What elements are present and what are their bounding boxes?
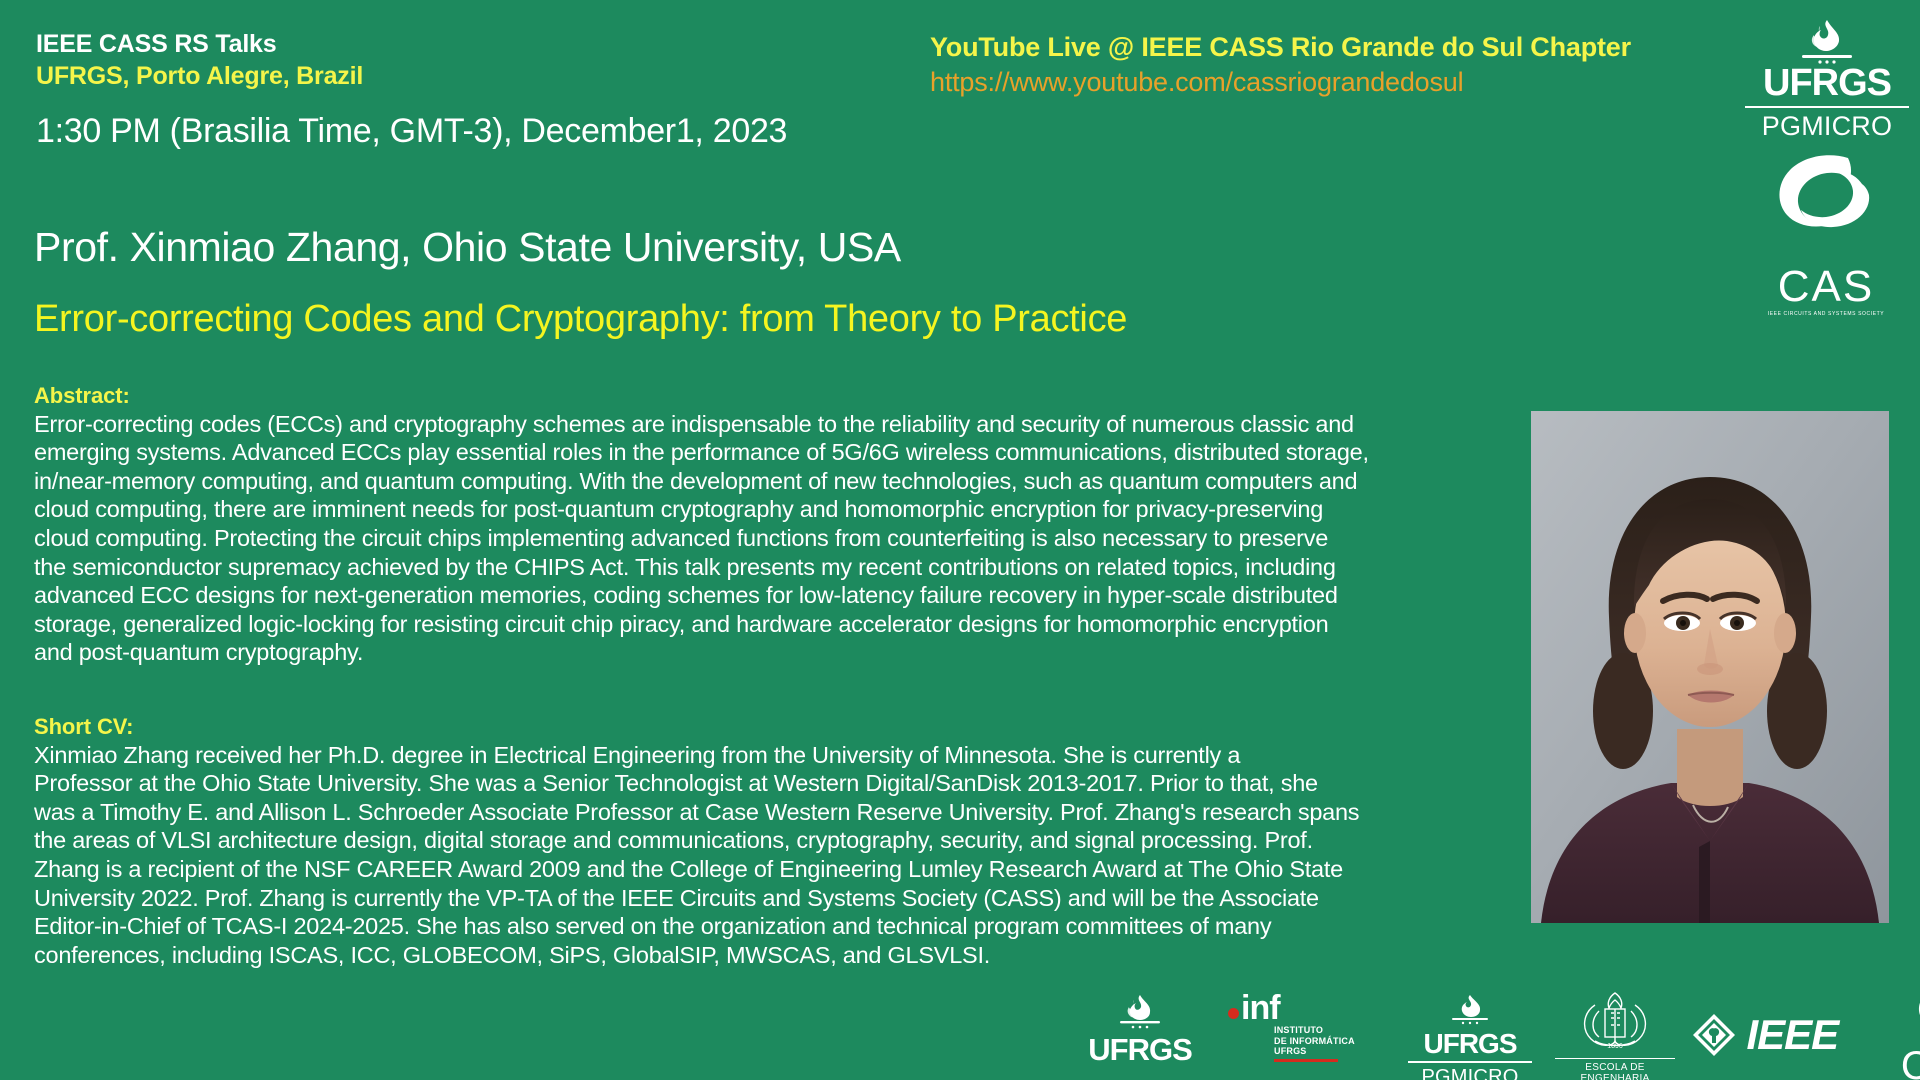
talk-series-label: IEEE CASS RS Talks (36, 28, 936, 60)
inf-divider-rule (1274, 1059, 1338, 1062)
pgmicro-wordmark: PGMICRO (1742, 113, 1912, 140)
ieee-diamond-icon (1690, 1011, 1738, 1059)
short-cv-text: Xinmiao Zhang received her Ph.D. degree … (34, 741, 1534, 969)
ieee-cas-footer-logo: CAS IEEE CIRCUITS AND SYSTEMS SOCIETY (1890, 985, 1920, 1080)
speaker-name-affiliation: Prof. Xinmiao Zhang, Ohio State Universi… (34, 224, 901, 271)
abstract-text: Error-correcting codes (ECCs) and crypto… (34, 410, 1554, 667)
inf-ufrgs-logo: inf INSTITUTO DE INFORMÁTICA UFRGS (1228, 991, 1378, 1062)
ieee-wordmark: IEEE (1746, 1011, 1838, 1058)
escola-year-label: 1896 (1607, 1043, 1623, 1050)
speaker-photo (1531, 411, 1889, 923)
ufrgs-footer-logo: UFRGS (1070, 993, 1210, 1065)
ieee-cas-logo: CAS IEEE CIRCUITS AND SYSTEMS SOCIETY (1736, 150, 1916, 317)
speaker-portrait-image (1531, 411, 1889, 923)
inf-wordmark-row: inf (1228, 991, 1378, 1025)
logo-divider-rule (1745, 106, 1909, 108)
ieee-logo: IEEE (1690, 1011, 1880, 1059)
header-left-block: IEEE CASS RS Talks UFRGS, Porto Alegre, … (36, 28, 936, 92)
cas-wordmark: CAS (1736, 265, 1916, 309)
ufrgs-flame-icon (1070, 993, 1210, 1029)
inf-subtitle-2: DE INFORMÁTICA (1274, 1036, 1378, 1047)
talk-title: Error-correcting Codes and Cryptography:… (34, 298, 1127, 341)
short-cv-label: Short CV: (34, 714, 1534, 741)
escola-de-engenharia-logo: 1896 ESCOLA DE ENGENHARIA (1550, 987, 1680, 1080)
talk-datetime-label: 1:30 PM (Brasilia Time, GMT-3), December… (36, 112, 787, 151)
broadcast-block: YouTube Live @ IEEE CASS Rio Grande do S… (930, 30, 1660, 99)
ufrgs-pgmicro-logo: UFRGS PGMICRO (1742, 18, 1912, 140)
ufrgs-flame-icon (1405, 993, 1535, 1025)
pgmicro-footer-logo: UFRGS PGMICRO (1405, 993, 1535, 1080)
talk-announcement-poster: IEEE CASS RS Talks UFRGS, Porto Alegre, … (0, 0, 1920, 1080)
ufrgs-wordmark: UFRGS (1070, 1034, 1210, 1065)
inf-wordmark: inf (1241, 989, 1280, 1027)
ufrgs-flame-icon (1742, 18, 1912, 64)
broadcast-url-link[interactable]: https://www.youtube.com/cassriograndedos… (930, 65, 1660, 100)
pgmicro-wordmark: PGMICRO (1405, 1067, 1535, 1080)
cas-swoosh-icon (1890, 985, 1920, 1041)
ufrgs-wordmark: UFRGS (1742, 64, 1912, 102)
broadcast-channel-label: YouTube Live @ IEEE CASS Rio Grande do S… (930, 30, 1660, 65)
abstract-section: Abstract: Error-correcting codes (ECCs) … (34, 383, 1554, 667)
cas-tagline: IEEE CIRCUITS AND SYSTEMS SOCIETY (1736, 312, 1916, 317)
escola-subtitle: ESCOLA DE ENGENHARIA (1550, 1062, 1680, 1080)
logo-divider-rule (1408, 1061, 1532, 1063)
cas-swoosh-icon (1736, 150, 1916, 260)
inf-red-dot-icon (1228, 1008, 1239, 1019)
ufrgs-wordmark: UFRGS (1405, 1030, 1535, 1058)
logo-divider-rule (1555, 1058, 1675, 1059)
inf-subtitle-3: UFRGS (1274, 1046, 1378, 1057)
escola-crest-icon: 1896 (1565, 987, 1665, 1051)
host-location-label: UFRGS, Porto Alegre, Brazil (36, 60, 936, 92)
inf-subtitle-1: INSTITUTO (1274, 1025, 1378, 1036)
abstract-label: Abstract: (34, 383, 1554, 410)
footer-logo-strip: UFRGS inf INSTITUTO DE INFORMÁTICA UFRGS… (1060, 985, 1910, 1080)
cas-wordmark: CAS (1890, 1046, 1920, 1080)
short-cv-section: Short CV: Xinmiao Zhang received her Ph.… (34, 714, 1534, 969)
